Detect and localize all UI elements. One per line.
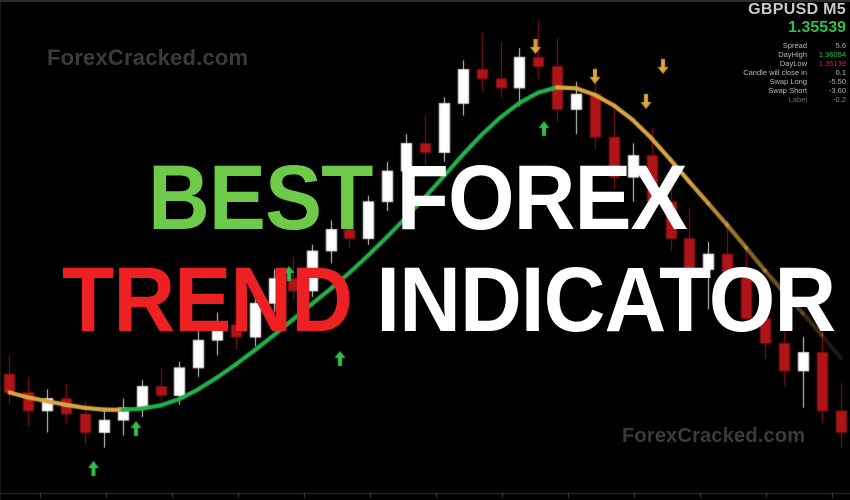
symbol-label: GBPUSD M5 [714, 2, 846, 19]
panel-row: DayHigh1.36094 [714, 50, 846, 59]
panel-row-value: 5.6 [812, 41, 846, 50]
panel-row-value: 1.36094 [812, 50, 846, 59]
current-price: 1.35539 [714, 20, 846, 37]
panel-row: Label-0.2 [714, 96, 846, 105]
panel-row-value: 1.35139 [812, 59, 846, 68]
panel-row-value: -0.2 [812, 96, 846, 105]
panel-row-label: Spread [714, 41, 812, 50]
watermark-top-left: ForexCracked.com [47, 45, 248, 71]
panel-row: DayLow1.35139 [714, 59, 846, 68]
panel-stats-table: Spread5.6DayHigh1.36094DayLow1.35139Cand… [714, 41, 846, 105]
panel-row-label: DayLow [714, 59, 812, 68]
watermark-bottom-right: ForexCracked.com [622, 425, 805, 448]
panel-row-label: Label [714, 96, 812, 105]
symbol-info-panel: GBPUSD M5 1.35539 Spread5.6DayHigh1.3609… [714, 2, 846, 105]
panel-row-label: DayHigh [714, 50, 812, 59]
screenshot-root: ForexCracked.com ForexCracked.com GBPUSD… [0, 0, 850, 500]
panel-row: Swap Short-3.60 [714, 87, 846, 96]
chart-frame-left [0, 0, 1, 500]
panel-row: Spread5.6 [714, 41, 846, 50]
